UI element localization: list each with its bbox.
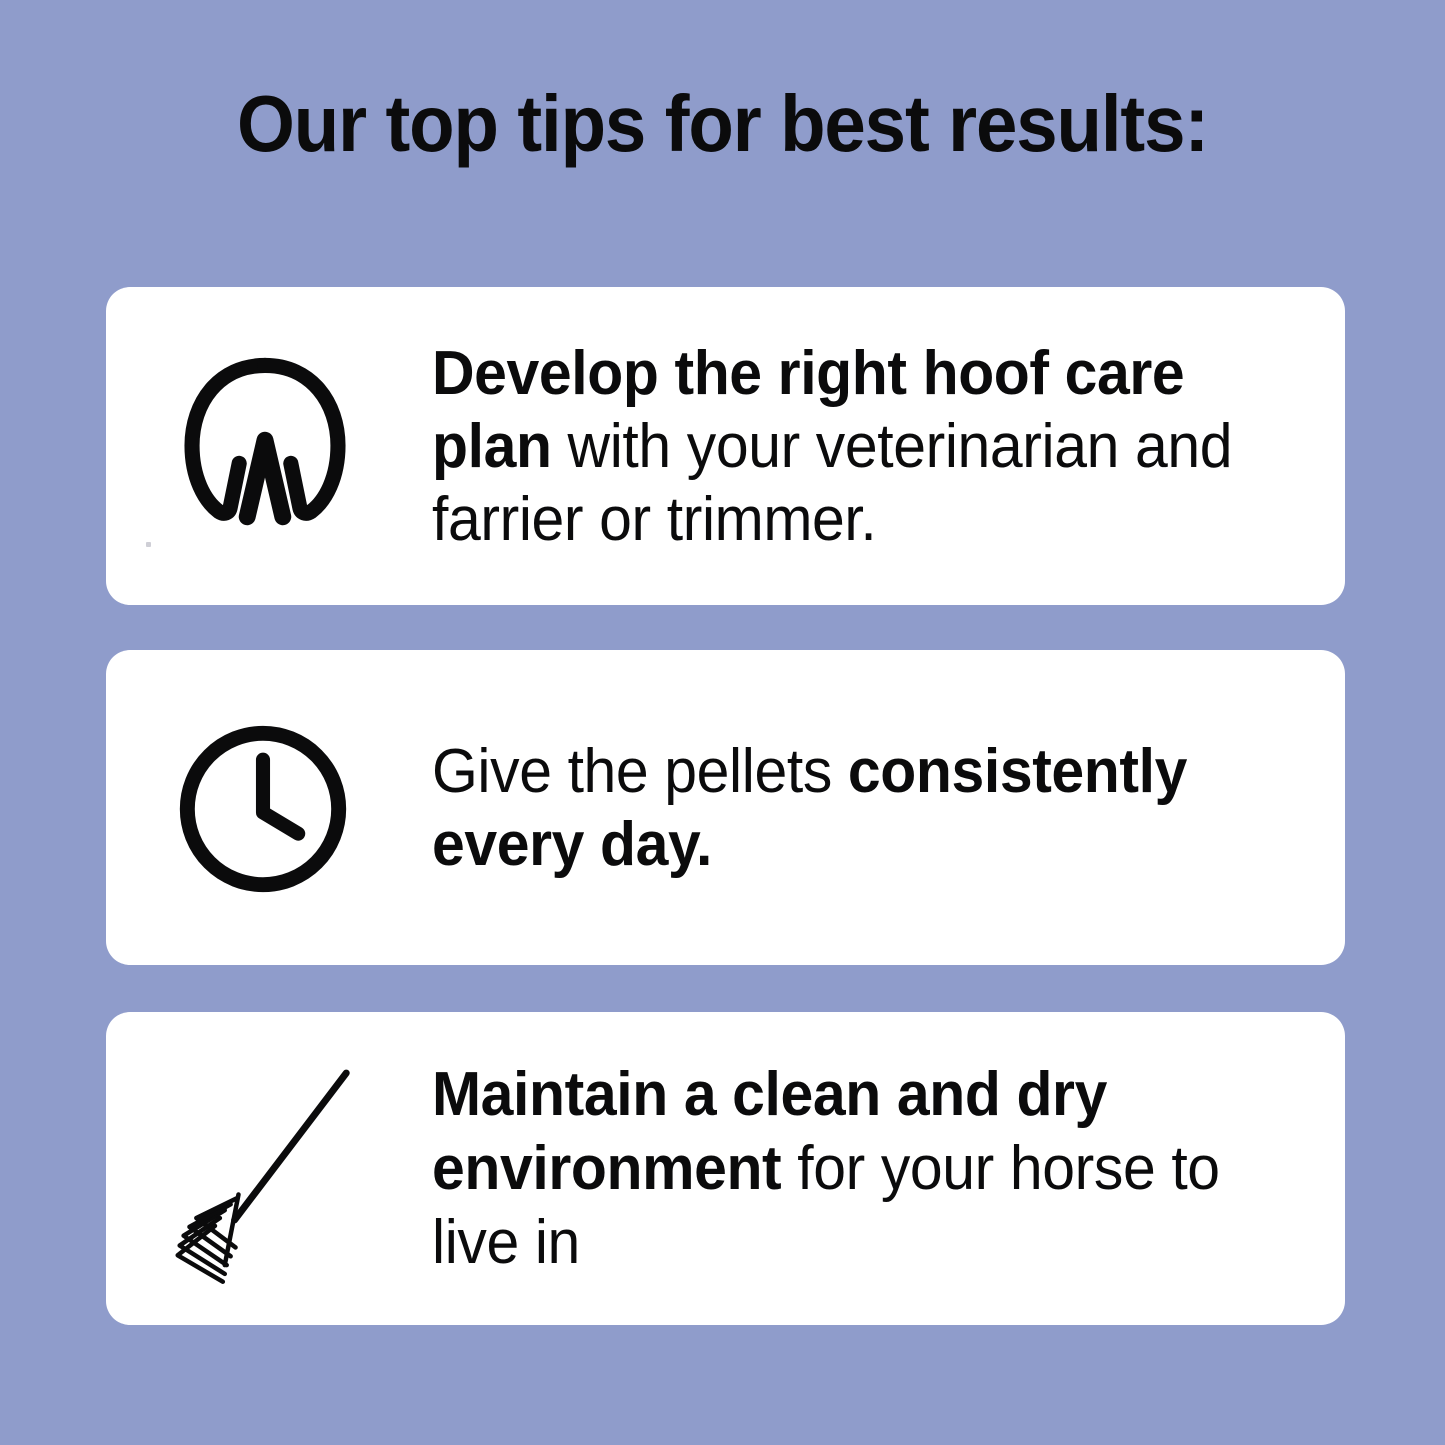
- tip-card-consistency: Give the pellets consistently every day.: [106, 650, 1345, 965]
- page-title: Our top tips for best results:: [51, 78, 1395, 170]
- tip-icon-cell: [106, 287, 432, 605]
- tip-card-clean-environment: Maintain a clean and dry environment for…: [106, 1012, 1345, 1325]
- tip-text: Give the pellets consistently every day.: [432, 735, 1299, 881]
- tip-rest: with your veterinarian and farrier or tr…: [432, 412, 1232, 554]
- tip-icon-cell: [106, 1012, 432, 1325]
- tip-text: Develop the right hoof care plan with yo…: [432, 337, 1299, 556]
- tip-card-hoof-care: Develop the right hoof care plan with yo…: [106, 287, 1345, 605]
- tip-lead: Give the pellets: [432, 737, 848, 806]
- tip-icon-cell: [106, 650, 432, 965]
- artifact-speck: [146, 542, 151, 547]
- clock-icon: [175, 721, 351, 897]
- tips-infographic: Our top tips for best results: Develop t…: [0, 0, 1445, 1445]
- tip-text: Maintain a clean and dry environment for…: [432, 1058, 1299, 1280]
- manure-fork-icon: [164, 1057, 360, 1285]
- hoof-icon: [176, 353, 354, 531]
